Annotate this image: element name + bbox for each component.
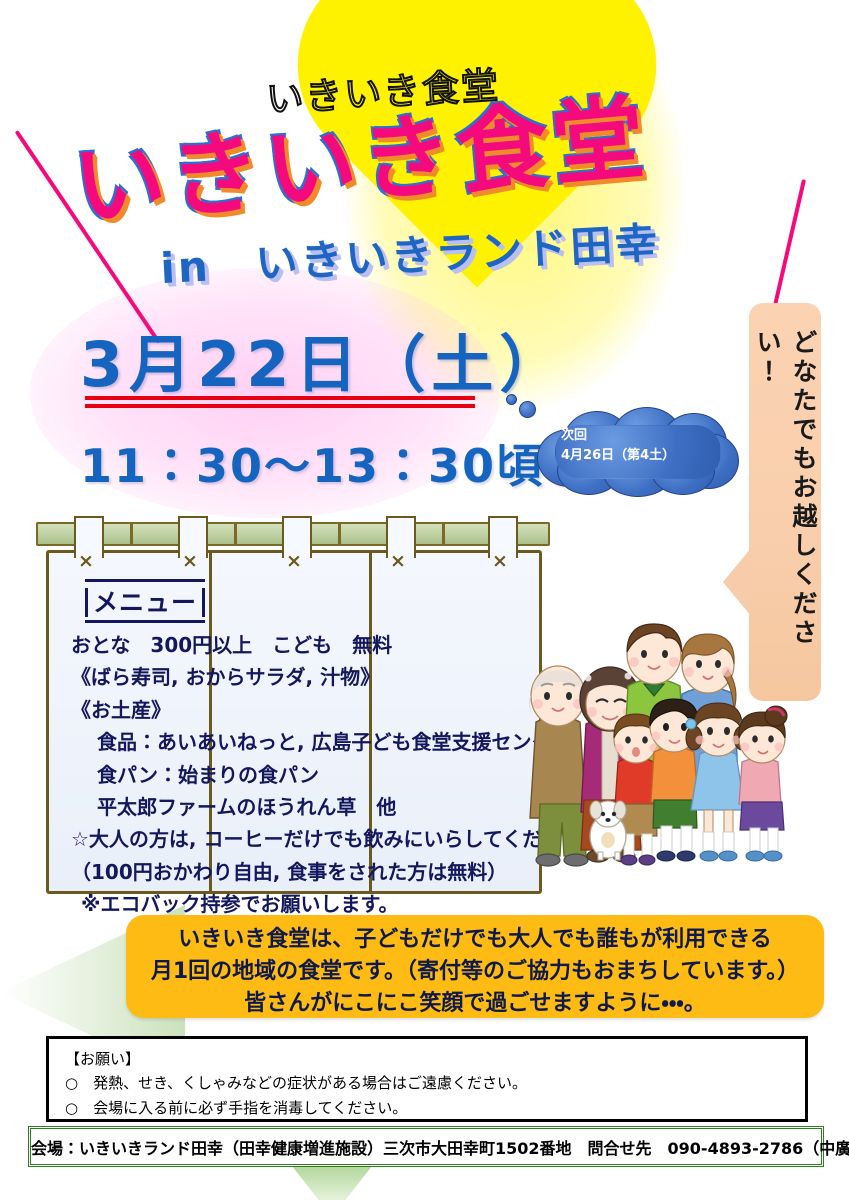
next-session-text: 次回 4月26日（第4土） xyxy=(561,426,721,466)
menu-line-souvenir-heading: 《お土産》 xyxy=(71,694,531,726)
next-session-label: 次回 xyxy=(561,426,721,446)
venue-text: 会場：いきいきランド田幸（田幸健康増進施設）三次市大田幸町1502番地 問合せ先… xyxy=(31,1135,821,1159)
request-item-2: ○ 会場に入る前に必ず手指を消毒してください。 xyxy=(65,1096,785,1120)
menu-line-dishes: 《ばら寿司, おからサラダ, 汁物》 xyxy=(71,661,531,693)
menu-line-food: 食品：あいあいねっと, 広島子ども食堂支援センター xyxy=(71,726,531,758)
event-date: 3月22日（土） xyxy=(80,314,567,404)
description-text: いきいき食堂は、子どもだけでも大人でも誰もが利用できる 月1回の地域の食堂です。… xyxy=(126,924,824,1020)
noren-pole-segment xyxy=(130,524,133,544)
dog-figure xyxy=(590,801,626,860)
menu-line-price: おとな 300円以上 こども 無料 xyxy=(71,629,531,661)
description-box: いきいき食堂は、子どもだけでも大人でも誰もが利用できる 月1回の地域の食堂です。… xyxy=(126,915,824,1018)
menu-heading-text: メニュー xyxy=(85,588,205,617)
date-underline-upper xyxy=(85,396,475,400)
thought-bubble-dot-small xyxy=(506,394,517,405)
noren-curtain: × × × × × メニュー おとな 300円以上 こども 無料 《ばら寿司, … xyxy=(36,506,546,891)
menu-line-bread: 食パン：始まりの食パン xyxy=(71,759,531,791)
menu-line-spinach: 平太郎ファームのほうれん草 他 xyxy=(71,791,531,823)
noren-panel: メニュー おとな 300円以上 こども 無料 《ばら寿司, おからサラダ, 汁物… xyxy=(46,550,542,894)
description-line-3: 皆さんがにこにこ笑顔で過ごせますように・・・。 xyxy=(126,988,824,1020)
girl-pink-top-figure xyxy=(739,706,787,861)
request-heading: 【お願い】 xyxy=(65,1047,785,1071)
date-underline-lower xyxy=(85,404,475,408)
request-text: 【お願い】 ○ 発熱、せき、くしゃみなどの症状がある場合はご遠慮ください。 ○ … xyxy=(65,1047,785,1120)
next-session-thought-bubble: 次回 4月26日（第4土） xyxy=(533,407,738,495)
description-line-2: 月1回の地域の食堂です。（寄付等のご協力もおまちしています。） xyxy=(126,956,824,988)
noren-pole-segment xyxy=(234,524,237,544)
noren-stitch-x-icon: × xyxy=(286,550,302,572)
request-box: 【お願い】 ○ 発熱、せき、くしゃみなどの症状がある場合はご遠慮ください。 ○ … xyxy=(46,1036,808,1122)
family-illustration xyxy=(528,604,824,872)
pink-diagonal-line-right xyxy=(771,179,806,316)
noren-stitch-x-icon: × xyxy=(390,550,406,572)
venue-bar: 会場：いきいきランド田幸（田幸健康増進施設）三次市大田幸町1502番地 問合せ先… xyxy=(28,1126,824,1167)
description-line-1: いきいき食堂は、子どもだけでも大人でも誰もが利用できる xyxy=(126,924,824,956)
next-session-date: 4月26日（第4土） xyxy=(561,446,721,466)
menu-line-refill-note: （100円おかわり自由, 食事をされた方は無料） xyxy=(71,856,531,888)
noren-stitch-x-icon: × xyxy=(78,550,94,572)
noren-stitch-x-icon: × xyxy=(182,550,198,572)
noren-stitch-x-icon: × xyxy=(492,550,508,572)
noren-pole-segment xyxy=(442,524,445,544)
menu-line-coffee-note: ☆大人の方は, コーヒーだけでも飲みにいらしてください！ xyxy=(71,823,531,855)
noren-pole-segment xyxy=(338,524,341,544)
menu-body: おとな 300円以上 こども 無料 《ばら寿司, おからサラダ, 汁物》 《お土… xyxy=(71,629,531,921)
request-item-1: ○ 発熱、せき、くしゃみなどの症状がある場合はご遠慮ください。 xyxy=(65,1071,785,1095)
grandfather-figure xyxy=(529,666,588,866)
poster-canvas: いきいき食堂 いきいき食堂 in いきいきランド田幸 3月22日（土） 11：3… xyxy=(0,0,849,1200)
menu-heading: メニュー xyxy=(85,579,205,623)
